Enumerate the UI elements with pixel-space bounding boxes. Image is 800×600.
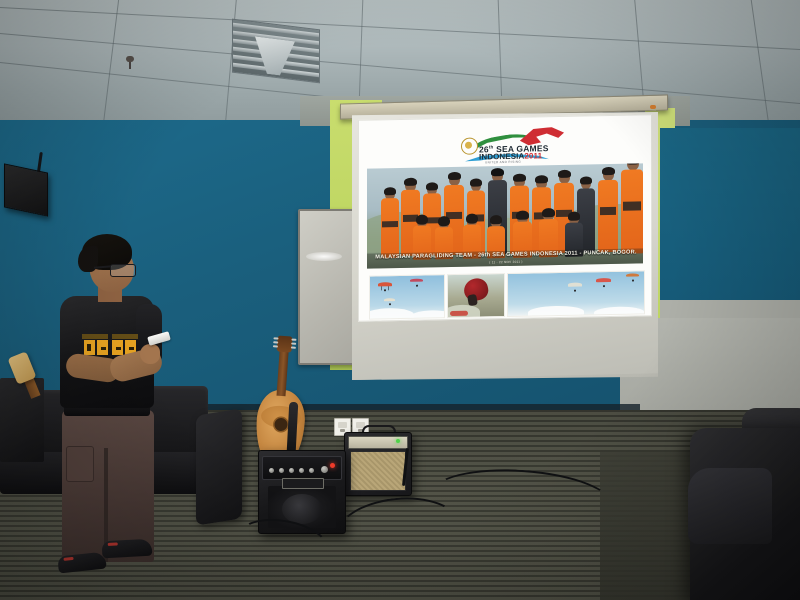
paraglider-icon [626,273,639,281]
amp-speaker-cone [282,494,322,524]
wall-teal-right [660,128,800,328]
wall-mounted-speaker [4,163,48,216]
logo-tagline: UNITED AND RISING [485,160,521,165]
paraglider-icon [384,298,395,305]
paraglider-icon [596,278,611,287]
fire-sprinkler-icon [126,56,134,69]
sea-games-logo: 26th SEA GAMES INDONESIA2011 UNITED AND … [443,122,569,170]
team-member [381,198,399,258]
eyeglasses-icon [110,264,136,277]
amp-power-led-green [396,439,400,443]
paraglider-icon [410,279,423,287]
housing-indicator-dot [650,105,656,109]
presenter-speaker [44,234,168,600]
team-member [598,180,618,252]
logo-year: 2011 [524,151,542,160]
amp-control-panel[interactable] [262,456,342,480]
projected-slide: 26th SEA GAMES INDONESIA2011 UNITED AND … [358,114,652,322]
black-leather-chair[interactable] [196,408,242,525]
logo-ordinal-suffix: th [489,144,494,149]
logo-emblem-icon [461,138,478,155]
presenter-shoe-left [57,552,107,574]
amp-grille-cloth [350,451,406,491]
amp-brand-badge [282,478,324,489]
air-diffuser-vent-icon [232,19,320,84]
amp-power-led-red [330,463,335,468]
cargo-pocket [66,446,94,482]
whiteboard-glare [306,252,342,261]
paraglider-icon [378,282,392,291]
subphoto-paraglider-closeup [447,273,505,318]
paraglider-icon [568,283,582,292]
presenter-shoe-right [102,539,153,559]
team-member [621,169,643,253]
presenter-hand [140,344,160,364]
room-photo-scene: 26th SEA GAMES INDONESIA2011 UNITED AND … [0,0,800,600]
armchair-armrest[interactable] [688,468,772,544]
subphoto-paragliders-right [507,270,645,317]
subphoto-paragliders-left [369,274,445,319]
